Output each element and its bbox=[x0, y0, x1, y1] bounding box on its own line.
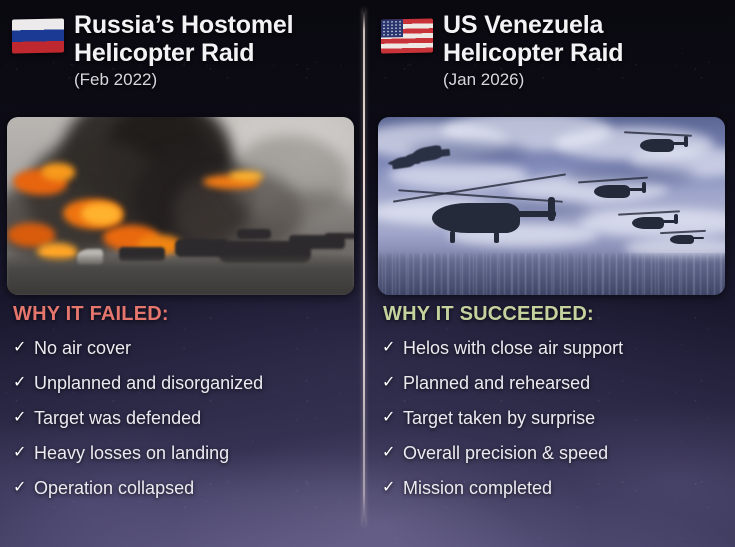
subtitle-usa: (Jan 2026) bbox=[443, 70, 725, 90]
list-item: ✓ Heavy losses on landing bbox=[13, 442, 360, 477]
reasons-list-usa: ✓ Helos with close air support ✓ Planned… bbox=[382, 337, 727, 512]
list-item: ✓ Planned and rehearsed bbox=[382, 372, 727, 407]
list-item: ✓ Overall precision & speed bbox=[382, 442, 727, 477]
helicopter-4 bbox=[670, 235, 694, 244]
reason-text: Mission completed bbox=[403, 477, 727, 499]
helicopter-3 bbox=[632, 217, 664, 229]
reason-text: Target taken by surprise bbox=[403, 407, 727, 429]
reason-text: Overall precision & speed bbox=[403, 442, 727, 464]
header-usa: US Venezuela Helicopter Raid (Jan 2026) bbox=[381, 11, 725, 111]
list-item: ✓ Helos with close air support bbox=[382, 337, 727, 372]
verdict-usa: WHY IT SUCCEEDED: bbox=[383, 303, 594, 326]
russia-flag-icon bbox=[12, 18, 64, 53]
list-item: ✓ Operation collapsed bbox=[13, 477, 360, 512]
list-item: ✓ No air cover bbox=[13, 337, 360, 372]
reasons-list-russia: ✓ No air cover ✓ Unplanned and disorgani… bbox=[13, 337, 360, 512]
check-icon: ✓ bbox=[382, 337, 403, 359]
reason-text: Helos with close air support bbox=[403, 337, 727, 359]
reason-text: Heavy losses on landing bbox=[34, 442, 360, 464]
photo-helicopter-formation bbox=[378, 117, 725, 295]
center-divider bbox=[363, 9, 365, 525]
comparison-infographic: Russia’s Hostomel Helicopter Raid (Feb 2… bbox=[0, 0, 735, 547]
reason-text: Planned and rehearsed bbox=[403, 372, 727, 394]
lead-helicopter bbox=[432, 203, 520, 233]
list-item: ✓ Target was defended bbox=[13, 407, 360, 442]
helicopter-5 bbox=[640, 139, 674, 152]
title-russia: Russia’s Hostomel Helicopter Raid bbox=[74, 11, 358, 67]
helicopter-2 bbox=[594, 185, 630, 198]
subtitle-russia: (Feb 2022) bbox=[74, 70, 358, 90]
check-icon: ✓ bbox=[382, 372, 403, 394]
usa-flag-icon bbox=[381, 18, 433, 53]
check-icon: ✓ bbox=[13, 477, 34, 499]
check-icon: ✓ bbox=[13, 372, 34, 394]
reason-text: Unplanned and disorganized bbox=[34, 372, 360, 394]
title-usa: US Venezuela Helicopter Raid bbox=[443, 11, 725, 67]
header-russia: Russia’s Hostomel Helicopter Raid (Feb 2… bbox=[12, 11, 358, 111]
list-item: ✓ Unplanned and disorganized bbox=[13, 372, 360, 407]
check-icon: ✓ bbox=[382, 442, 403, 464]
check-icon: ✓ bbox=[382, 407, 403, 429]
column-usa: US Venezuela Helicopter Raid (Jan 2026) bbox=[367, 0, 735, 547]
check-icon: ✓ bbox=[13, 442, 34, 464]
check-icon: ✓ bbox=[382, 477, 403, 499]
list-item: ✓ Mission completed bbox=[382, 477, 727, 512]
reason-text: Target was defended bbox=[34, 407, 360, 429]
check-icon: ✓ bbox=[13, 407, 34, 429]
verdict-russia: WHY IT FAILED: bbox=[13, 303, 169, 326]
reason-text: Operation collapsed bbox=[34, 477, 360, 499]
city-buildings-texture bbox=[378, 253, 725, 295]
check-icon: ✓ bbox=[13, 337, 34, 359]
reason-text: No air cover bbox=[34, 337, 360, 359]
column-russia: Russia’s Hostomel Helicopter Raid (Feb 2… bbox=[0, 0, 368, 547]
photo-hostomel-wreckage bbox=[7, 117, 354, 295]
list-item: ✓ Target taken by surprise bbox=[382, 407, 727, 442]
tarmac-foreground bbox=[7, 255, 354, 295]
